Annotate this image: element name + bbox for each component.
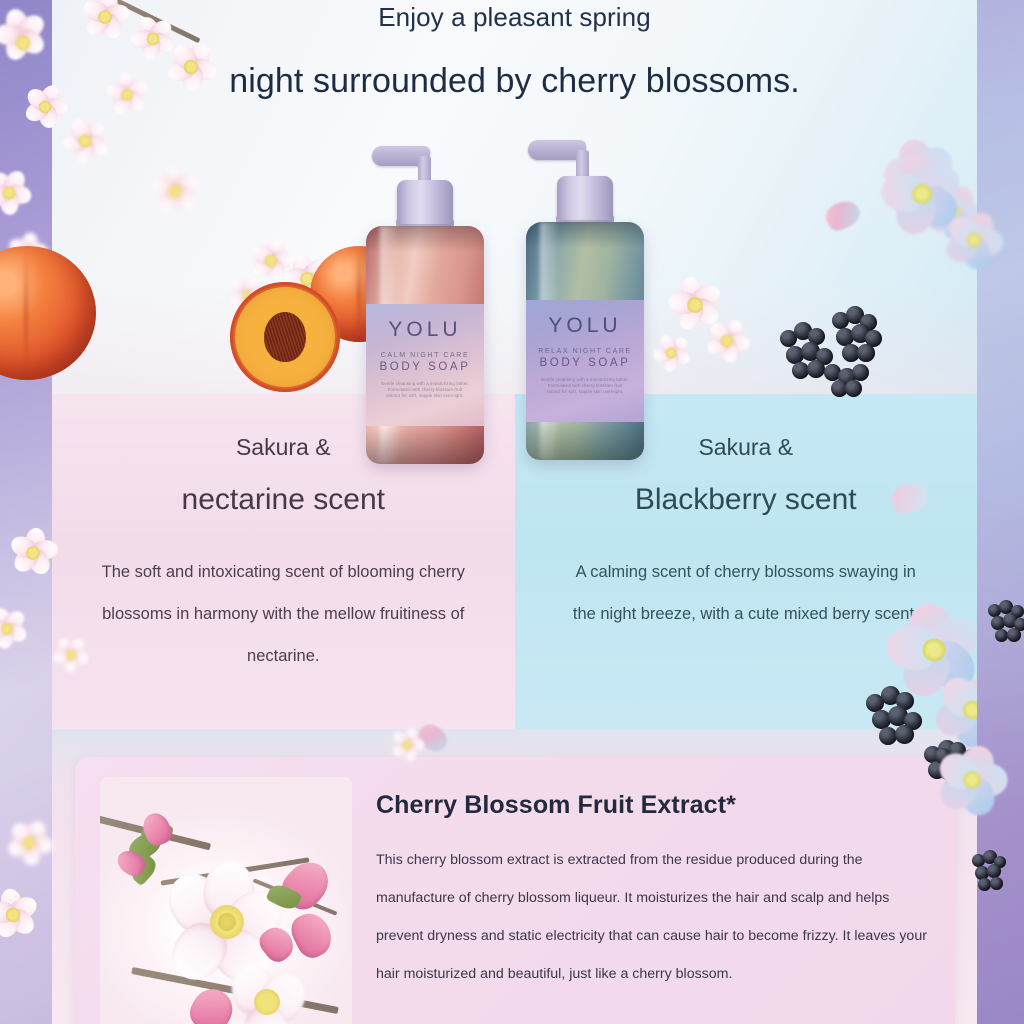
bottle-brand-right: YOLU bbox=[526, 314, 644, 338]
bottle-care-line-right: RELAX NIGHT CARE bbox=[526, 348, 644, 355]
extract-card: Cherry Blossom Fruit Extract* This cherr… bbox=[75, 757, 955, 1024]
bottle-label-right: YOLU RELAX NIGHT CARE BODY SOAP Gentle c… bbox=[526, 300, 644, 422]
hero-headline-line2: night surrounded by cherry blossoms. bbox=[52, 62, 977, 101]
extract-section: Cherry Blossom Fruit Extract* This cherr… bbox=[52, 729, 977, 1024]
bottle-fineprint-left: Gentle cleansing with a moisturizing lat… bbox=[366, 381, 484, 399]
scent-title-large-right: Blackberry scent bbox=[515, 483, 978, 517]
product-bottles: YOLU CALM NIGHT CARE BODY SOAP Gentle cl… bbox=[52, 0, 977, 394]
scent-title-large-left: nectarine scent bbox=[52, 483, 515, 517]
bottle-type-line-right: BODY SOAP bbox=[526, 357, 644, 369]
extract-title: Cherry Blossom Fruit Extract* bbox=[376, 791, 736, 820]
scent-text-right: Sakura & Blackberry scent A calming scen… bbox=[515, 434, 978, 635]
bottle-body-right: YOLU RELAX NIGHT CARE BODY SOAP Gentle c… bbox=[526, 222, 644, 460]
content-panel: Sakura & nectarine scent The soft and in… bbox=[52, 0, 977, 1024]
sakura-blossom-icon bbox=[0, 883, 45, 947]
bottle-body-left: YOLU CALM NIGHT CARE BODY SOAP Gentle cl… bbox=[366, 226, 484, 464]
bottle-fineprint-right: Gentle cleansing with a moisturizing lat… bbox=[526, 377, 644, 395]
bottle-care-line-left: CALM NIGHT CARE bbox=[366, 352, 484, 359]
blackberry-icon bbox=[986, 600, 1024, 648]
bottle-label-left: YOLU CALM NIGHT CARE BODY SOAP Gentle cl… bbox=[366, 304, 484, 426]
extract-body-text: This cherry blossom extract is extracted… bbox=[376, 841, 936, 993]
cherry-blossom-photo bbox=[100, 777, 352, 1024]
sakura-blossom-icon bbox=[0, 598, 38, 660]
scent-text-left: Sakura & nectarine scent The soft and in… bbox=[52, 434, 515, 677]
bottle-brand-left: YOLU bbox=[366, 318, 484, 342]
scent-description-left: The soft and intoxicating scent of bloom… bbox=[52, 551, 515, 677]
pump-head-right bbox=[526, 136, 644, 222]
bottle-type-line-left: BODY SOAP bbox=[366, 361, 484, 373]
promo-canvas: Sakura & nectarine scent The soft and in… bbox=[0, 0, 1024, 1024]
hero-headline-line1: Enjoy a pleasant spring bbox=[52, 2, 977, 33]
pump-head-left bbox=[366, 140, 484, 226]
scent-description-right: A calming scent of cherry blossoms swayi… bbox=[515, 551, 978, 635]
sakura-blossom-icon bbox=[1, 227, 53, 279]
sakura-blossom-icon bbox=[0, 157, 45, 228]
blackberry-cluster-right-frame bbox=[986, 600, 1024, 670]
scent-split-section: Sakura & nectarine scent The soft and in… bbox=[52, 394, 977, 729]
